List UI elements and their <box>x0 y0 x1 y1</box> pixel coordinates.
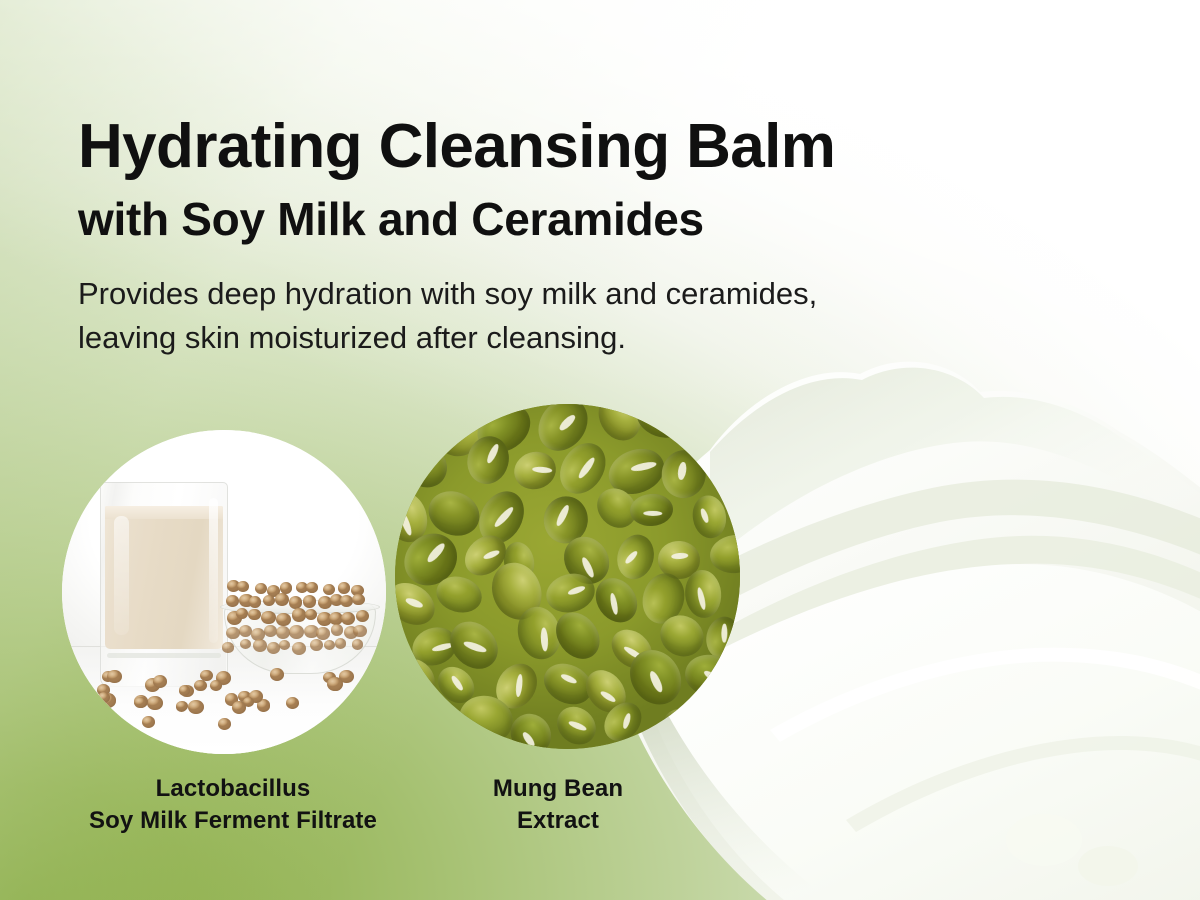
mung-bean-hilum <box>515 673 524 696</box>
mung-bean-hilum <box>415 715 436 735</box>
marketing-banner: Hydrating Cleansing Balm with Soy Milk a… <box>0 0 1200 900</box>
mung-bean-hilum <box>450 675 464 692</box>
mung-bean-hilum <box>642 511 661 517</box>
mung-bean-hilum <box>532 466 553 474</box>
mung-bean-hilum <box>718 449 740 471</box>
soybean <box>237 581 249 592</box>
mung-bean-hilum <box>568 719 588 732</box>
mung-bean-hilum <box>462 640 487 655</box>
page-title: Hydrating Cleansing Balm <box>78 116 1018 178</box>
product-description: Provides deep hydration with soy milk an… <box>78 272 1008 360</box>
mung-bean-hilum <box>560 673 578 686</box>
soybean <box>316 627 329 639</box>
description-line-2: leaving skin moisturized after cleansing… <box>78 316 1008 360</box>
soybean <box>179 685 191 695</box>
soybean <box>239 625 252 637</box>
mung-bean-hilum <box>540 627 549 651</box>
mung-bean-hilum <box>700 508 711 524</box>
mung-bean-hilum <box>672 552 689 560</box>
soybean <box>255 583 267 594</box>
mung-bean-hilum <box>576 456 596 480</box>
mung-bean-hilum <box>405 596 424 609</box>
mung-bean-hilum <box>648 670 665 695</box>
mung-bean-hilum <box>567 584 586 596</box>
soybean <box>341 612 355 625</box>
soybean <box>261 611 275 624</box>
mung-bean-hilum <box>622 712 632 729</box>
mung-bean-hilum <box>492 504 515 528</box>
soybean <box>352 639 364 650</box>
ingredient-image-soy-milk <box>62 430 386 754</box>
soybean <box>176 701 187 711</box>
mung-bean-hilum <box>405 667 425 689</box>
soybean <box>249 596 262 608</box>
mung-bean-hilum <box>691 416 708 434</box>
glass-highlight <box>209 498 218 643</box>
soybean <box>147 696 162 710</box>
mung-bean-hilum <box>599 689 617 703</box>
soybean <box>222 642 233 652</box>
mung-bean-hilum <box>609 592 619 615</box>
soybean <box>352 594 364 605</box>
soy-milk-glass <box>100 482 228 687</box>
mung-bean-hilum <box>677 461 687 480</box>
soybean <box>327 677 343 691</box>
page-subtitle: with Soy Milk and Ceramides <box>78 196 1018 242</box>
mung-bean-hilum <box>631 460 658 473</box>
mung-bean-hilum <box>702 669 723 685</box>
soybean <box>142 716 155 728</box>
soybean <box>153 675 167 688</box>
ingredient-caption-soy-milk: Lactobacillus Soy Milk Ferment Filtrate <box>33 773 433 837</box>
soybean <box>275 593 289 606</box>
soybean <box>218 718 231 730</box>
mung-bean-hilum <box>521 731 536 749</box>
soybean <box>305 609 317 620</box>
soybean <box>286 697 300 709</box>
soybean <box>353 625 367 637</box>
soybean <box>324 640 335 650</box>
mung-bean-hilum <box>486 442 502 464</box>
soybean <box>253 639 267 652</box>
soybean <box>310 639 323 651</box>
scattered-soybeans <box>90 658 386 732</box>
soybean <box>292 642 306 655</box>
soybean <box>98 692 110 703</box>
soybean <box>188 700 204 714</box>
soybean <box>248 609 260 620</box>
soybean <box>289 625 304 638</box>
cream-blob-1 <box>1006 814 1082 866</box>
mung-bean-hilum <box>696 586 707 610</box>
soybean <box>270 668 284 681</box>
soybean <box>306 582 317 593</box>
caption-soy-line-2: Soy Milk Ferment Filtrate <box>33 805 433 837</box>
mung-bean-hilum <box>447 417 463 439</box>
mung-bean-hilum <box>399 510 414 536</box>
soybean <box>303 595 316 607</box>
soybean <box>289 596 302 608</box>
soybean <box>379 699 386 711</box>
soybean <box>338 582 350 593</box>
soybean <box>243 697 254 707</box>
caption-mung-line-2: Extract <box>438 805 678 837</box>
cream-blob-2 <box>1078 846 1138 886</box>
caption-soy-line-1: Lactobacillus <box>33 773 433 805</box>
ingredient-image-mung-bean <box>395 404 740 749</box>
description-line-1: Provides deep hydration with soy milk an… <box>78 272 1008 316</box>
mung-bean-hilum <box>554 504 571 528</box>
soybean <box>210 680 222 691</box>
soybean <box>194 680 207 692</box>
soy-milk-liquid <box>105 506 223 649</box>
mung-bean-hilum <box>482 549 500 561</box>
caption-mung-line-1: Mung Bean <box>438 773 678 805</box>
mung-bean-hilum <box>721 625 727 644</box>
soybean <box>331 624 344 636</box>
soybean <box>356 610 369 622</box>
soybean <box>280 582 293 594</box>
soybean <box>362 698 375 710</box>
ingredient-caption-mung-bean: Mung Bean Extract <box>438 773 678 837</box>
soybean <box>107 670 121 683</box>
mung-bean-hilum <box>558 412 578 432</box>
mung-bean-hilum <box>425 541 447 564</box>
mung-bean-hilum <box>725 718 740 731</box>
mung-bean-hilum <box>624 550 639 566</box>
